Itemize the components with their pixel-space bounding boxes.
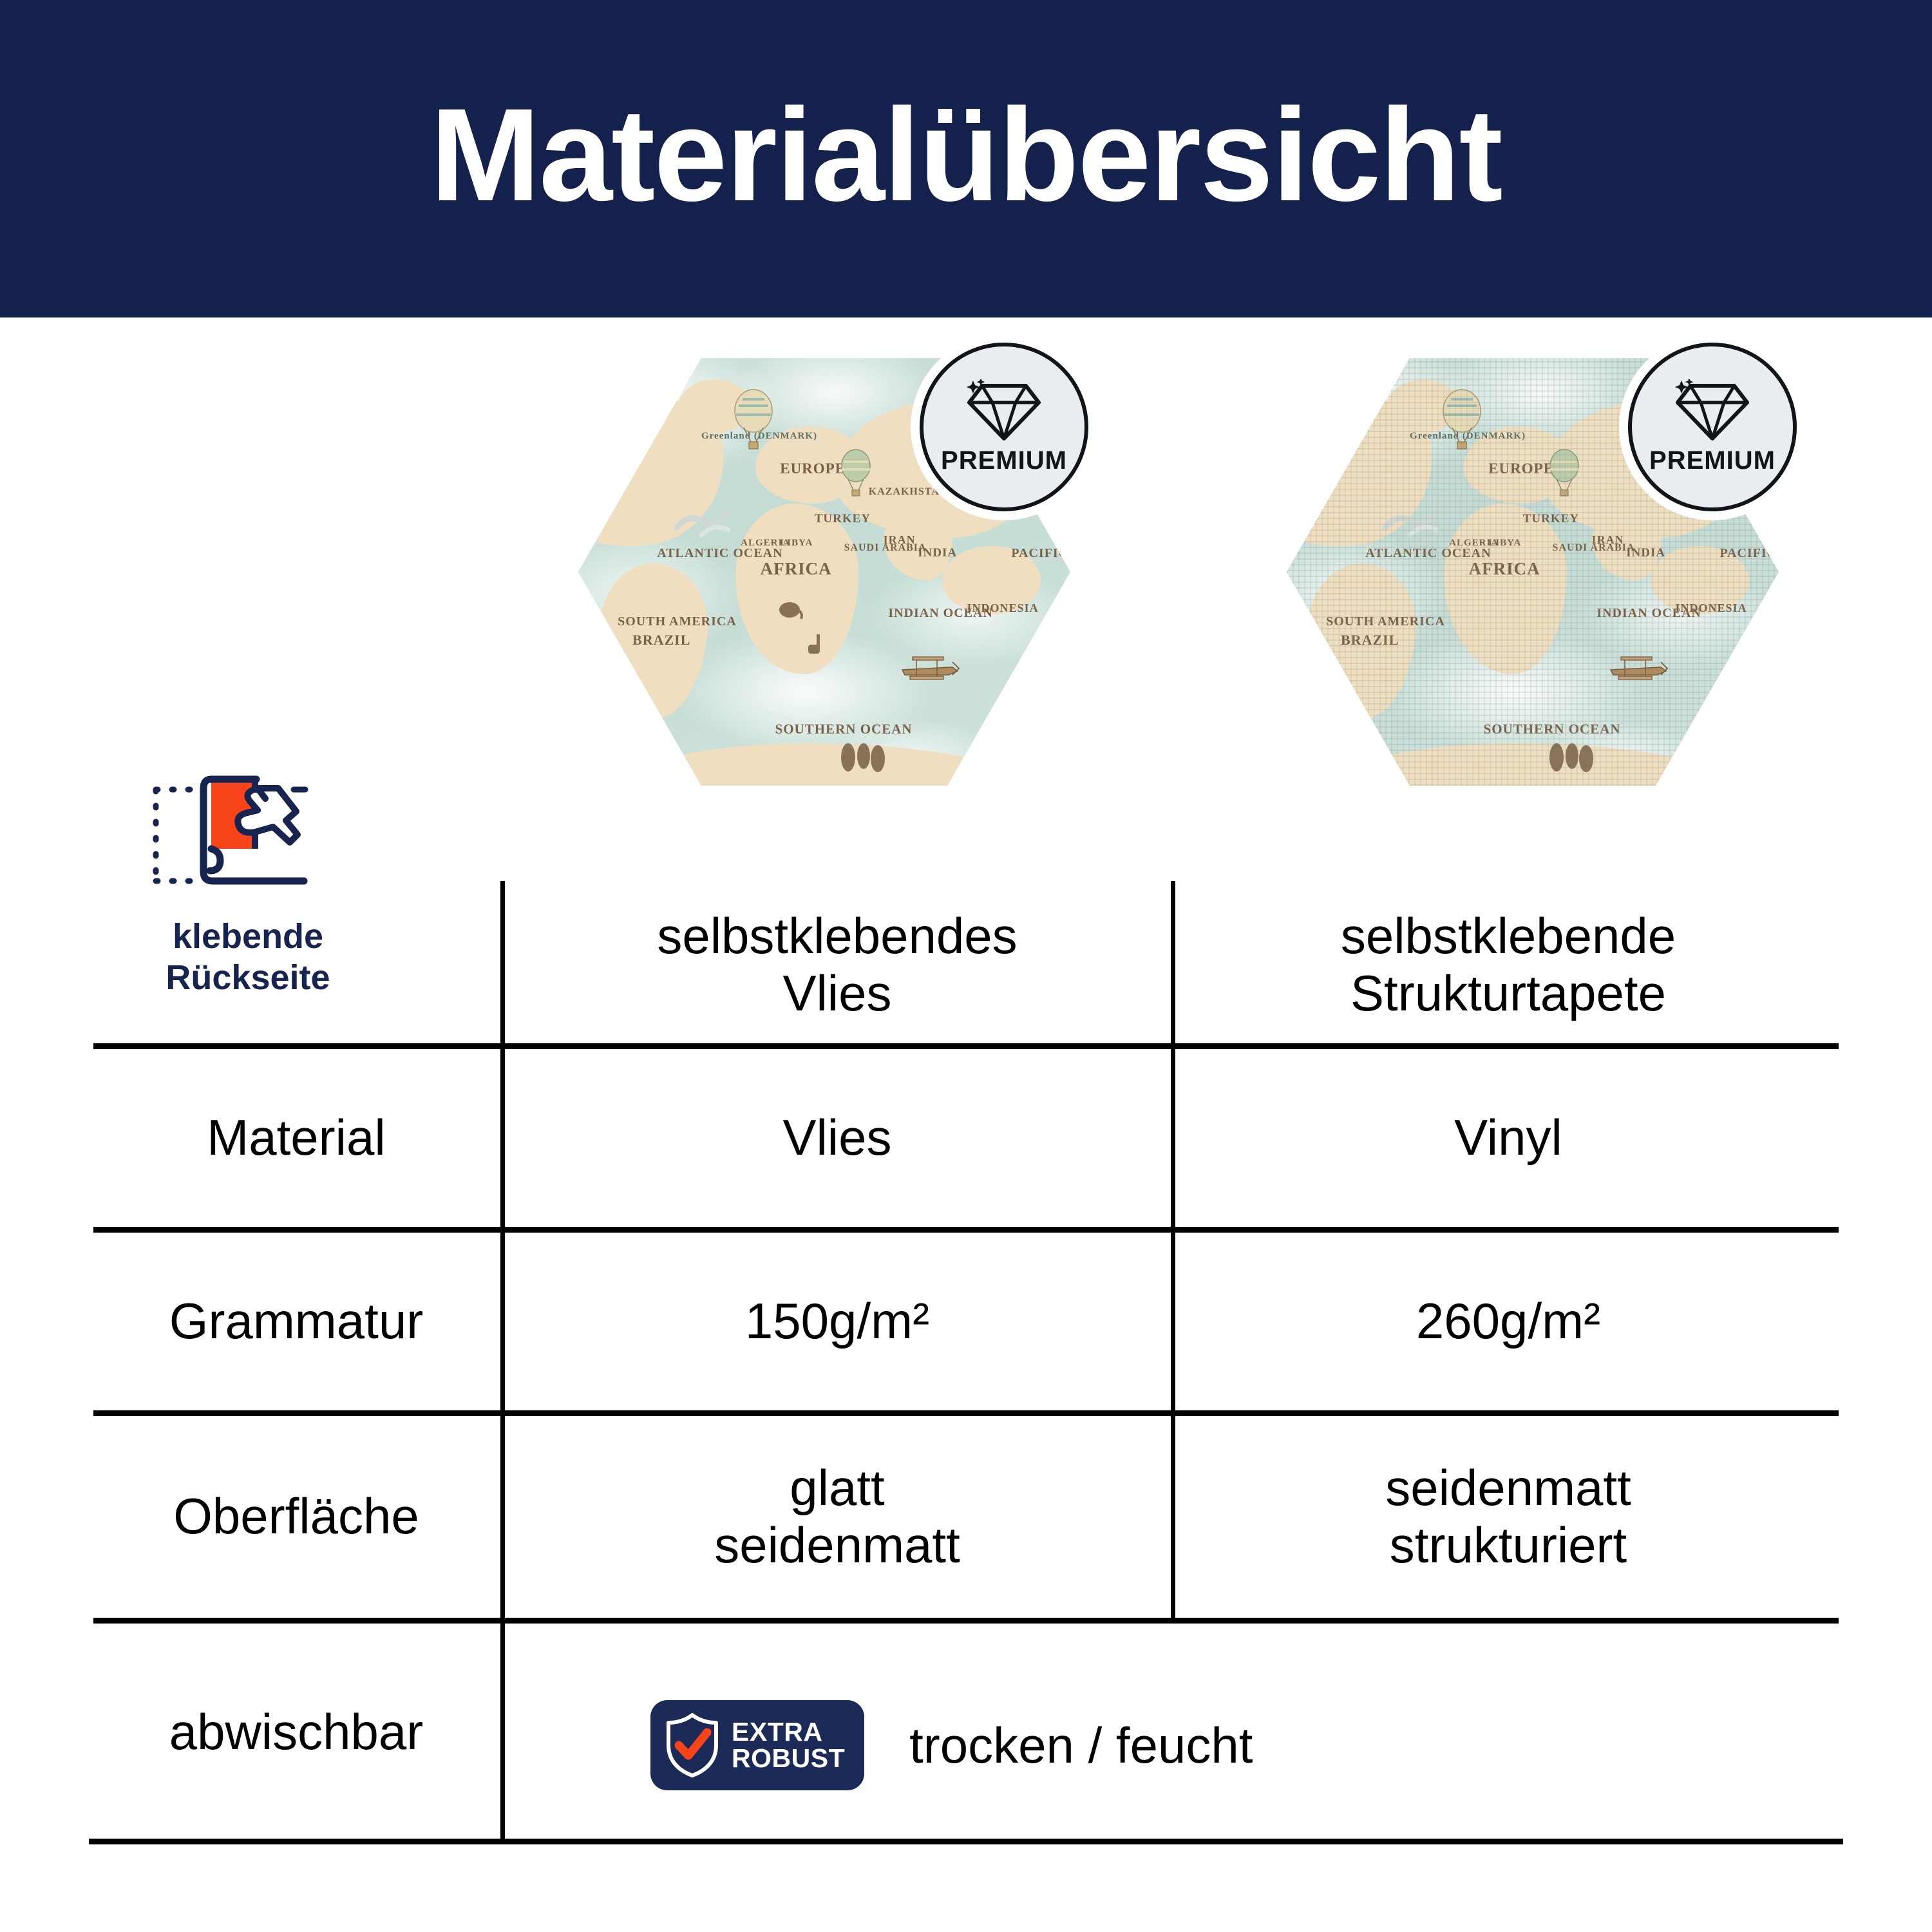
premium-badge: PREMIUM <box>1628 343 1797 511</box>
table-cell-oberflaeche-col2-line2: strukturiert <box>1390 1517 1627 1574</box>
table-header-col1: selbstklebendes Vlies <box>509 889 1166 1040</box>
table-cell-oberflaeche-col2: seidenmatt strukturiert <box>1180 1418 1837 1615</box>
table-header-col2-line2: Strukturtapete <box>1350 965 1666 1022</box>
table-cell-oberflaeche-col1-line1: glatt <box>790 1459 884 1517</box>
premium-badge: PREMIUM <box>920 343 1088 511</box>
diamond-icon <box>1674 379 1751 442</box>
shield-check-icon <box>665 1712 720 1779</box>
diamond-icon <box>965 379 1043 442</box>
table-rule-4 <box>93 1618 1839 1624</box>
table-cell-oberflaeche-col1: glatt seidenmatt <box>509 1418 1166 1615</box>
material-comparison-table: selbstklebendes Vlies selbstklebende Str… <box>0 0 1932 1932</box>
table-row-label-grammatur: Grammatur <box>97 1235 496 1407</box>
table-cell-material-vlies: Vlies <box>509 1051 1166 1224</box>
table-rule-3 <box>93 1410 1839 1416</box>
extra-robust-badge: EXTRA ROBUST <box>650 1700 864 1790</box>
table-row-label-abwischbar: abwischbar <box>97 1625 496 1838</box>
premium-badge-label: PREMIUM <box>941 446 1067 475</box>
table-cell-abwischbar-value: EXTRA ROBUST trocken / feucht <box>650 1700 1253 1790</box>
table-cell-grammatur-col1: 150g/m² <box>509 1235 1166 1407</box>
table-header-col2-line1: selbstklebende <box>1341 907 1676 965</box>
table-header-col1-line2: Vlies <box>782 965 891 1022</box>
table-cell-oberflaeche-col2-line1: seidenmatt <box>1385 1459 1631 1517</box>
table-cell-oberflaeche-col1-line2: seidenmatt <box>714 1517 960 1574</box>
table-divider-col1 <box>500 881 505 1839</box>
table-header-col2: selbstklebende Strukturtapete <box>1180 889 1837 1040</box>
table-row-label-oberflaeche: Oberfläche <box>97 1418 496 1615</box>
table-cell-material-vinyl: Vinyl <box>1180 1051 1837 1224</box>
premium-badge-label: PREMIUM <box>1649 446 1776 475</box>
extra-robust-badge-line2: ROBUST <box>732 1745 845 1772</box>
table-row-label-material: Material <box>97 1051 496 1224</box>
table-divider-col2 <box>1171 881 1175 1618</box>
extra-robust-badge-line1: EXTRA <box>732 1719 845 1745</box>
table-cell-abwischbar-text: trocken / feucht <box>909 1716 1253 1775</box>
table-rule-5 <box>89 1839 1843 1844</box>
table-cell-grammatur-col2: 260g/m² <box>1180 1235 1837 1407</box>
table-header-col1-line1: selbstklebendes <box>657 907 1017 965</box>
table-rule-1 <box>93 1043 1839 1049</box>
table-rule-2 <box>93 1227 1839 1233</box>
